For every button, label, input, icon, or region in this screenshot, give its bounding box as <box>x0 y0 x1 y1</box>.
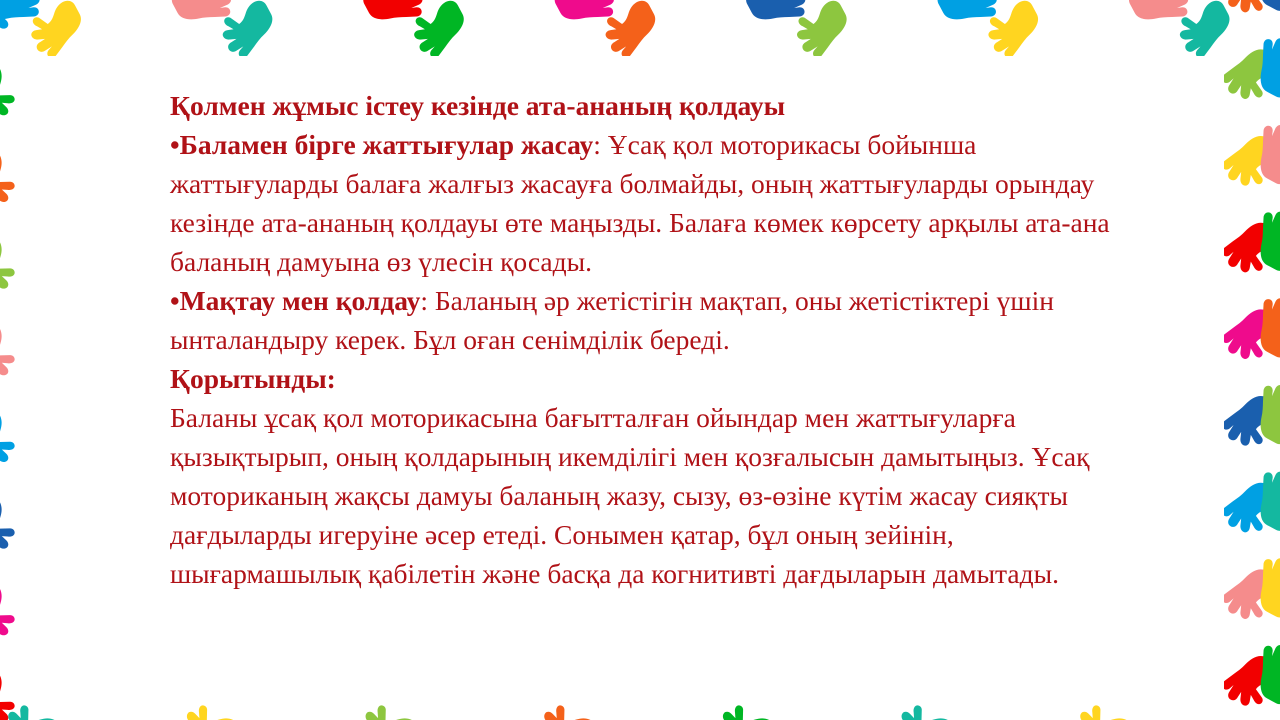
bullet-marker-1: • <box>170 129 180 160</box>
bullet-lead-1: Баламен бірге жаттығулар жасау <box>180 129 594 160</box>
hand-border-bottom <box>0 664 1280 720</box>
hand-border-top <box>0 0 1280 56</box>
bullet-marker-2: • <box>170 285 180 316</box>
bullet-item-1: •Баламен бірге жаттығулар жасау: Ұсақ қо… <box>170 125 1150 281</box>
bullet-item-2: •Мақтау мен қолдау: Баланың әр жетістігі… <box>170 281 1150 359</box>
slide-heading: Қолмен жұмыс істеу кезінде ата-ананың қо… <box>170 86 1150 125</box>
conclusion-body: Баланы ұсақ қол моторикасына бағытталған… <box>170 398 1150 593</box>
conclusion-heading: Қорытынды: <box>170 359 1150 398</box>
hand-border-left <box>0 0 56 720</box>
bullet-lead-2: Мақтау мен қолдау <box>180 285 421 316</box>
hand-border-right <box>1224 0 1280 720</box>
slide-canvas: Қолмен жұмыс істеу кезінде ата-ананың қо… <box>0 0 1280 720</box>
slide-text-body: Қолмен жұмыс істеу кезінде ата-ананың қо… <box>170 86 1150 593</box>
bullet-separator-1: : <box>593 129 608 160</box>
bullet-separator-2: : <box>420 285 435 316</box>
